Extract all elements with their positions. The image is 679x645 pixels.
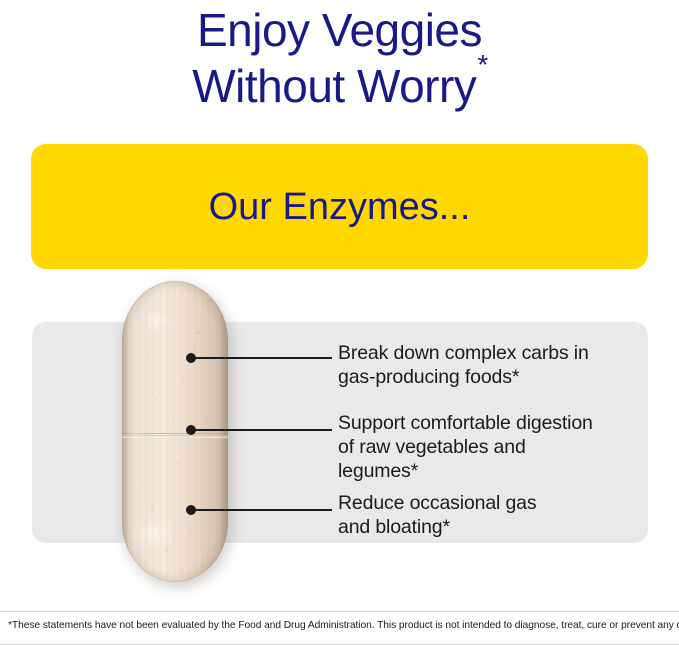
leader-dot-1 — [186, 353, 196, 363]
capsule-rim-shading — [122, 281, 228, 582]
footer-divider-top — [0, 611, 679, 612]
headline-line-2-text: Without Worry — [192, 60, 476, 112]
benefit-text-2: Support comfortable digestion of raw veg… — [338, 411, 593, 483]
leader-line-3 — [191, 509, 332, 511]
benefit-text-1: Break down complex carbs in gas-producin… — [338, 341, 589, 389]
headline-line-1: Enjoy Veggies — [0, 2, 679, 58]
enzymes-banner-label: Our Enzymes... — [209, 187, 471, 227]
leader-line-1 — [191, 357, 332, 359]
leader-dot-3 — [186, 505, 196, 515]
leader-line-2 — [191, 429, 332, 431]
page-title: Enjoy Veggies Without Worry* — [0, 0, 679, 114]
leader-dot-2 — [186, 425, 196, 435]
headline-asterisk: * — [477, 49, 487, 80]
capsule-body — [122, 281, 228, 582]
headline-line-2: Without Worry* — [0, 58, 679, 114]
benefit-text-3: Reduce occasional gas and bloating* — [338, 491, 536, 539]
capsule-image — [122, 281, 232, 584]
enzymes-banner: Our Enzymes... — [31, 144, 648, 269]
infographic-canvas: Enjoy Veggies Without Worry* Our Enzymes… — [0, 0, 679, 645]
footer-disclaimer: *These statements have not been evaluate… — [8, 619, 673, 633]
